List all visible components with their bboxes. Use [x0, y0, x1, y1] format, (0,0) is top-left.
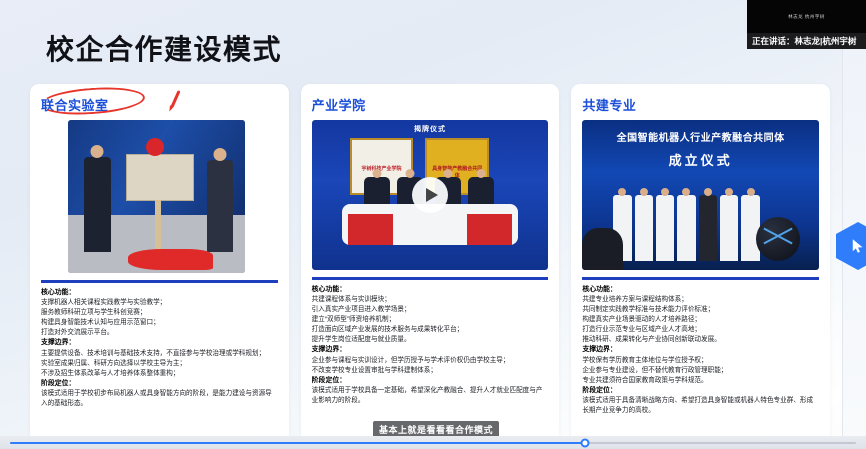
- easel: [135, 200, 185, 252]
- photo-plaque-unveiling: [68, 120, 245, 273]
- section-text: 共建专业培养方案与课程结构体系； 共同制定实践教学标准与技术能力评价标准； 构建…: [582, 295, 819, 345]
- card-image-joint-laboratory: [68, 120, 245, 273]
- play-button-icon[interactable]: [412, 177, 448, 213]
- card-body: 核心功能： 共建专业培养方案与课程结构体系； 共同制定实践教学标准与技术能力评价…: [582, 285, 819, 416]
- person-right: [207, 160, 233, 252]
- pip-video-feed[interactable]: 林志龙 杭州宇树: [747, 0, 866, 33]
- section-text: 该模式适用于学校初步布局机器人或具身智能方向的阶段，是能力建设与资源导入的基础形…: [41, 389, 278, 409]
- section-heading: 支撑边界：: [582, 345, 819, 355]
- photo-signing-ceremony: 揭牌仪式 宇树科技产业学院 具身智能产教融合共同体: [312, 120, 549, 270]
- section-heading: 阶段定位：: [312, 376, 549, 386]
- section-text: 学校保有学历教育主体地位与学位授予权； 企业参与专业建设，但不替代教育行政管理职…: [582, 356, 819, 386]
- section-text: 该模式适用于具备清晰战略方向、希望打造具身智能或机器人特色专业群、形成长期产业竞…: [582, 396, 819, 416]
- section-heading: 支撑边界：: [41, 338, 278, 348]
- table-drape-right: [467, 214, 513, 245]
- section-heading: 核心功能：: [312, 285, 549, 295]
- card-title: 共建专业: [582, 95, 636, 114]
- card-video-industry-college[interactable]: 揭牌仪式 宇树科技产业学院 具身智能产教融合共同体: [312, 120, 549, 270]
- card-divider: [41, 280, 278, 283]
- card-image-joint-major: 全国智能机器人行业产教融合共同体 成立仪式: [582, 120, 819, 270]
- card-body: 核心功能： 支撑机器人相关课程实践教学与实验教学； 服务教师科研立项与学生科创竞…: [41, 288, 278, 409]
- card-industry-college[interactable]: 产业学院 揭牌仪式 宇树科技产业学院 具身智能产教融合共同体: [301, 84, 560, 436]
- red-cloth: [128, 249, 213, 270]
- pip-name-tag: 林志龙 杭州宇树: [788, 14, 825, 20]
- cursor-pointer-icon[interactable]: [836, 222, 866, 270]
- card-divider: [582, 277, 819, 280]
- section-heading: 核心功能：: [582, 285, 819, 295]
- person: [699, 195, 717, 261]
- ceremony-globe: [756, 217, 800, 261]
- card-container: 联合实验室 核心功能： 支撑机器人相关课程实践教学与实验教学； 服务教师科研立项…: [30, 84, 830, 436]
- section-heading: 阶段定位：: [582, 386, 819, 396]
- people-row: [613, 195, 760, 261]
- card-joint-major[interactable]: 共建专业 全国智能机器人行业产教融合共同体 成立仪式: [571, 84, 830, 436]
- card-title: 产业学院: [312, 95, 366, 114]
- image-headline-line1: 全国智能机器人行业产教融合共同体: [582, 129, 819, 144]
- photo-alliance-founding: 全国智能机器人行业产教融合共同体 成立仪式: [582, 120, 819, 270]
- card-divider: [312, 277, 549, 280]
- screen: 校企合作建设模式 联合实验室 核心功能：: [0, 0, 866, 449]
- person: [656, 195, 674, 261]
- person: [741, 195, 759, 261]
- card-joint-laboratory[interactable]: 联合实验室 核心功能： 支撑机器人相关课程实践教学与实验教学； 服务教师科研立项…: [30, 84, 289, 436]
- video-banner-text: 揭牌仪式: [414, 124, 446, 134]
- person-left: [84, 157, 111, 252]
- playback-bar[interactable]: [0, 436, 866, 449]
- page-title: 校企合作建设模式: [46, 28, 282, 68]
- person: [720, 195, 738, 261]
- section-heading: 支撑边界：: [312, 345, 549, 355]
- section-heading: 阶段定位：: [41, 379, 278, 389]
- section-text: 该模式适用于学校具备一定基础，希望深化产教融合、提升人才就业匹配度与产业影响力的…: [312, 386, 549, 406]
- progress-fill: [10, 442, 585, 444]
- foreground-audience: [582, 228, 622, 270]
- section-text: 共建课程体系与实训模块； 引入真实产业项目进入教学场景； 建立“双师型”师资培养…: [312, 295, 549, 345]
- slide-right-gutter: [842, 0, 866, 436]
- plaque-board: [126, 154, 193, 201]
- person: [677, 195, 695, 261]
- image-headline-line2: 成立仪式: [582, 150, 819, 169]
- person: [635, 195, 653, 261]
- screen-left-text: 宇树科技产业学院: [356, 165, 408, 172]
- card-title: 联合实验室: [41, 95, 109, 114]
- table-drape-left: [348, 214, 394, 245]
- presentation-slide: 校企合作建设模式 联合实验室 核心功能：: [0, 0, 866, 436]
- active-speaker-label: 正在讲话：林志龙|杭州宇树: [747, 33, 866, 49]
- progress-track[interactable]: [10, 442, 856, 444]
- section-text: 主要提供设备、技术培训与基础技术支持，不直接参与学校治理或学科规划； 实验室成果…: [41, 349, 278, 379]
- section-heading: 核心功能：: [41, 288, 278, 298]
- video-call-pip[interactable]: 林志龙 杭州宇树 正在讲话：林志龙|杭州宇树: [747, 0, 866, 49]
- card-body: 核心功能： 共建课程体系与实训模块； 引入真实产业项目进入教学场景； 建立“双师…: [312, 285, 549, 406]
- progress-handle[interactable]: [581, 439, 590, 448]
- section-text: 支撑机器人相关课程实践教学与实验教学； 服务教师科研立项与学生科创竞赛； 构建具…: [41, 298, 278, 338]
- section-text: 企业参与课程与实训设计，但学历授予与学术评价权仍由学校主导； 不改变学校专业设置…: [312, 356, 549, 376]
